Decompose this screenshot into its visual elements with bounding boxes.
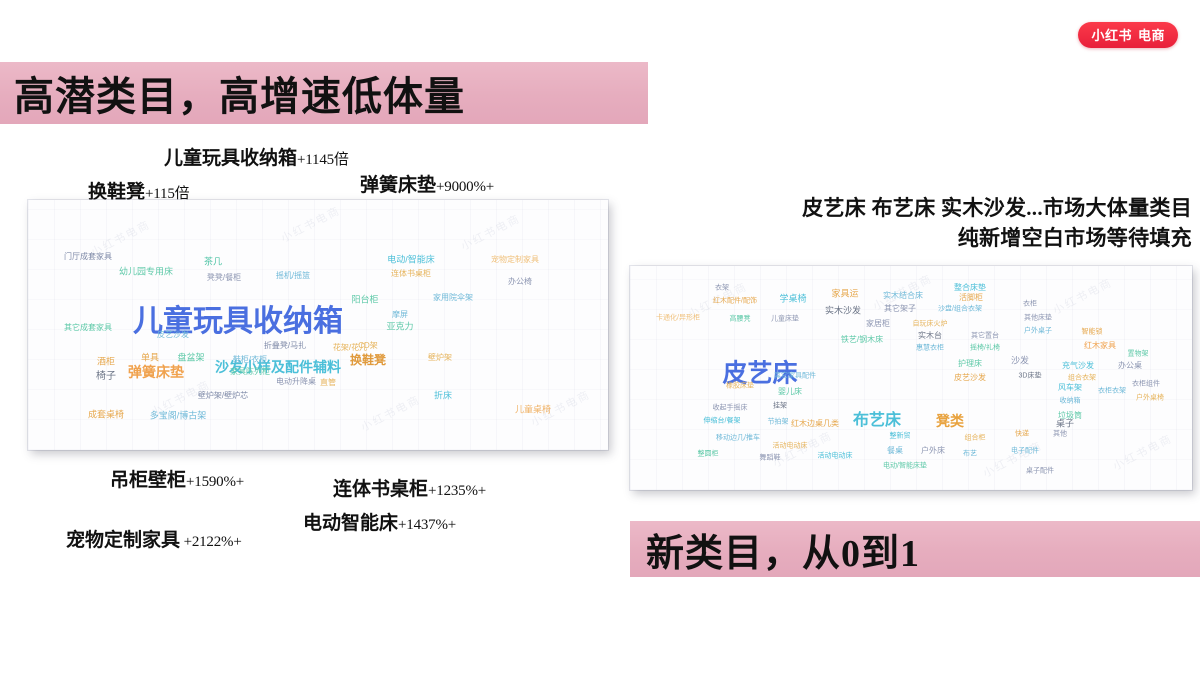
annotation-value: +1235%+ xyxy=(428,483,486,499)
word-cloud-term: 餐桌 xyxy=(887,447,903,455)
word-cloud-card-new-category: 小红书电商小红书电商小红书电商小红书电商小红书电商小红书电商 皮艺床布艺床凳类衣… xyxy=(630,266,1192,490)
annotation-value: +1590%+ xyxy=(186,474,244,490)
word-cloud-term: 桌子 xyxy=(1056,420,1074,429)
headline-left-text: 高潜类目，高增速低体量 xyxy=(0,64,465,122)
word-cloud-term: 组合柜 xyxy=(965,435,986,442)
word-cloud-term: 直管 xyxy=(320,379,336,387)
word-cloud-term: 其它架子 xyxy=(884,305,916,313)
word-cloud-term: 实木沙发 xyxy=(825,307,861,316)
word-cloud-term: 移动边几/推车 xyxy=(716,435,760,442)
annotation-below: 吊柜壁柜+1590%+ xyxy=(110,465,244,492)
word-cloud-term: 沙发 xyxy=(1011,357,1029,366)
annotation-keyword: 儿童玩具收纳箱 xyxy=(164,148,297,169)
word-cloud-term: 换鞋凳 xyxy=(350,354,386,366)
word-cloud-term: 酒柜 xyxy=(97,358,115,367)
word-cloud-term: 家具陈列柜 xyxy=(230,368,270,376)
word-cloud-term: 宠物定制家具 xyxy=(491,256,539,264)
headline-banner-right: 新类目，从0到1 xyxy=(630,521,1200,577)
word-cloud-term: 红木边桌几类 xyxy=(791,420,839,428)
word-cloud-term: 惠慧衣柜 xyxy=(916,345,944,352)
word-cloud-term: 收纳箱 xyxy=(1060,398,1081,405)
word-cloud-term: 衣柜衣架 xyxy=(1098,388,1126,395)
word-cloud-term: 活动电动床 xyxy=(818,453,853,460)
word-cloud-term: 皮艺沙发 xyxy=(157,331,189,339)
headline-right-text: 新类目，从0到1 xyxy=(630,522,920,577)
word-cloud-term: 成套桌椅 xyxy=(88,411,124,420)
annotation-value: +1145倍 xyxy=(297,152,349,168)
right-description-line-1: 皮艺床 布艺床 实木沙发...市场大体量类目 xyxy=(750,193,1192,223)
word-cloud-term: 办公椅 xyxy=(508,278,532,286)
word-cloud-term: 电动升降桌 xyxy=(276,378,316,386)
word-cloud-term: 衣架 xyxy=(715,285,729,292)
word-cloud-term: 快递 xyxy=(1015,431,1029,438)
word-cloud-term: 学桌椅 xyxy=(779,295,806,304)
annotation-value: +1437%+ xyxy=(398,517,456,533)
word-cloud-term: 婴儿床 xyxy=(778,388,802,396)
annotation-value: +9000%+ xyxy=(436,179,494,195)
word-cloud-term: 电动/智能床 xyxy=(387,256,435,265)
word-cloud-term: 户外桌椅 xyxy=(1136,395,1164,402)
word-cloud-term: 卡通化/异形柜 xyxy=(656,315,700,322)
right-description-line-2: 纯新增空白市场等待填充 xyxy=(750,223,1192,253)
word-cloud-term: 衣柜 xyxy=(1023,301,1037,308)
word-cloud-term: 家用院伞架 xyxy=(433,294,473,302)
word-cloud-term: 布艺 xyxy=(963,451,977,458)
word-cloud-term: 橡胶床垫 xyxy=(726,383,754,390)
word-cloud-term: 门厅成套家具 xyxy=(64,253,112,261)
brand-name: 小红书 xyxy=(1091,29,1132,42)
word-cloud-term: 折叠凳/马扎 xyxy=(264,342,306,350)
word-cloud-term: 整合床垫 xyxy=(954,284,986,292)
word-cloud-term: 幼儿园专用床 xyxy=(119,268,173,277)
word-cloud-term: 整圆柜 xyxy=(698,451,719,458)
word-cloud-term: 盘盆架 xyxy=(177,354,204,363)
word-cloud-term: 舞蹈鞋 xyxy=(760,455,781,462)
word-cloud-term: 沙盘/组合衣架 xyxy=(938,306,982,313)
word-cloud-term: 亚克力 xyxy=(386,323,413,332)
word-cloud-term: 连体书桌柜 xyxy=(391,270,431,278)
word-cloud-term: 单具 xyxy=(141,354,159,363)
word-cloud-term: 高腰凳 xyxy=(730,316,751,323)
word-cloud-term: 椅子 xyxy=(96,372,116,382)
annotation-above: 弹簧床垫+9000%+ xyxy=(360,170,494,197)
word-cloud-term: 弹簧床垫 xyxy=(128,365,184,379)
annotation-keyword: 吊柜壁柜 xyxy=(110,470,186,491)
word-cloud-term: 其他床垫 xyxy=(1024,315,1052,322)
word-cloud-term: 实木结合床 xyxy=(883,292,923,300)
word-cloud-term: 摇椅/礼椅 xyxy=(970,345,1000,352)
word-cloud-term: 组合衣架 xyxy=(1068,375,1096,382)
word-cloud-term: 红木家具 xyxy=(1084,342,1116,350)
word-cloud-term: 风车架 xyxy=(1058,384,1082,392)
word-cloud-term: 挂架 xyxy=(773,403,787,410)
word-cloud-term: 皮艺沙发 xyxy=(954,374,986,382)
word-cloud-term: 户外桌子 xyxy=(1024,328,1052,335)
word-cloud-term: 活动电动床 xyxy=(773,443,808,450)
word-cloud-term: 电子配件 xyxy=(1011,448,1039,455)
right-description: 皮艺床 布艺床 实木沙发...市场大体量类目 纯新增空白市场等待填充 xyxy=(750,193,1192,254)
word-cloud-term: 户外床 xyxy=(921,447,945,455)
annotation-above: 儿童玩具收纳箱+1145倍 xyxy=(164,143,349,170)
word-cloud-term: 整新贸 xyxy=(890,433,911,440)
word-cloud-term: 其它家具配件 xyxy=(774,373,816,380)
word-cloud-term: 布艺床 xyxy=(853,413,901,429)
word-cloud-term: 护理床 xyxy=(958,360,982,368)
word-cloud-term: 置物架 xyxy=(1128,351,1149,358)
word-cloud-term: 3D床垫 xyxy=(1019,373,1042,380)
word-cloud-term: 衣柜组件 xyxy=(1132,381,1160,388)
word-cloud-term: 电动/智能床垫 xyxy=(883,463,927,470)
watermark-text: 小红书电商 xyxy=(1050,274,1115,318)
annotation-keyword: 弹簧床垫 xyxy=(360,175,436,196)
word-cloud-term: 壁炉架 xyxy=(428,354,452,362)
annotation-keyword: 宠物定制家具 xyxy=(66,530,180,551)
headline-banner-left: 高潜类目，高增速低体量 xyxy=(0,62,648,124)
word-cloud-term: 收起手摇床 xyxy=(713,405,748,412)
word-cloud-term: 实木台 xyxy=(918,332,942,340)
annotation-value: +2122%+ xyxy=(180,534,242,550)
word-cloud-term: 智能锁 xyxy=(1082,329,1103,336)
word-cloud-term: 其它置台 xyxy=(971,333,999,340)
word-cloud-term: 摇机/摇篮 xyxy=(276,272,310,280)
word-cloud-term: 摩屏 xyxy=(392,311,408,319)
word-cloud-term: 阳台柜 xyxy=(351,296,378,305)
word-cloud-term: 折床 xyxy=(434,392,452,401)
word-cloud-term: 其他 xyxy=(1053,431,1067,438)
word-cloud-term: 红木配件/配饰 xyxy=(713,298,757,305)
word-cloud-term: 活脚柜 xyxy=(959,294,983,302)
word-cloud-term: 凳类 xyxy=(936,414,964,428)
brand-logo: 小红书 电商 xyxy=(1078,22,1178,48)
word-cloud-term: 儿童桌椅 xyxy=(515,406,551,415)
annotation-below: 连体书桌柜+1235%+ xyxy=(333,474,486,501)
word-cloud-term: 儿童床垫 xyxy=(771,316,799,323)
word-cloud-term: 家居柜 xyxy=(866,320,890,328)
word-cloud-term: 凳凳/餐柜 xyxy=(207,274,241,282)
brand-suffix: 电商 xyxy=(1138,29,1165,42)
annotation-below: 宠物定制家具 +2122%+ xyxy=(66,525,242,552)
word-cloud-term: 节拍架 xyxy=(768,419,789,426)
annotation-keyword: 电动智能床 xyxy=(303,513,398,534)
word-cloud-term: 其它成套家具 xyxy=(64,324,112,332)
word-cloud-term: 花架/花几 xyxy=(333,344,367,352)
word-cloud-term: 铁艺/钢木床 xyxy=(841,336,883,344)
annotation-below: 电动智能床+1437%+ xyxy=(303,508,456,535)
watermark-text: 小红书电商 xyxy=(458,210,523,254)
word-cloud-card-high-potential: 小红书电商小红书电商小红书电商小红书电商小红书电商小红书电商 儿童玩具收纳箱沙发… xyxy=(28,200,608,450)
word-cloud-term: 伸缩台/餐架 xyxy=(704,418,741,425)
word-cloud-term: 桌子配件 xyxy=(1026,468,1054,475)
word-cloud-term: 自玩床火炉 xyxy=(913,321,948,328)
watermark-text: 小红书电商 xyxy=(358,391,423,435)
word-cloud-term: 茶几 xyxy=(204,258,222,267)
word-cloud-term: 充气沙发 xyxy=(1062,362,1094,370)
watermark-text: 小红书电商 xyxy=(278,202,343,246)
annotation-keyword: 连体书桌柜 xyxy=(333,479,428,500)
word-cloud-term: 壁炉架/壁炉芯 xyxy=(198,392,248,400)
slide-canvas: 小红书 电商 高潜类目，高增速低体量 新类目，从0到1 皮艺床 布艺床 实木沙发… xyxy=(0,0,1200,673)
word-cloud-term: 办公桌 xyxy=(1118,362,1142,370)
word-cloud-term: 家具运 xyxy=(831,290,858,299)
word-cloud-term: 鞋柜/衣柜 xyxy=(233,356,267,364)
watermark-text: 小红书电商 xyxy=(1110,430,1175,474)
word-cloud-term: 多宝阁/博古架 xyxy=(150,412,207,421)
